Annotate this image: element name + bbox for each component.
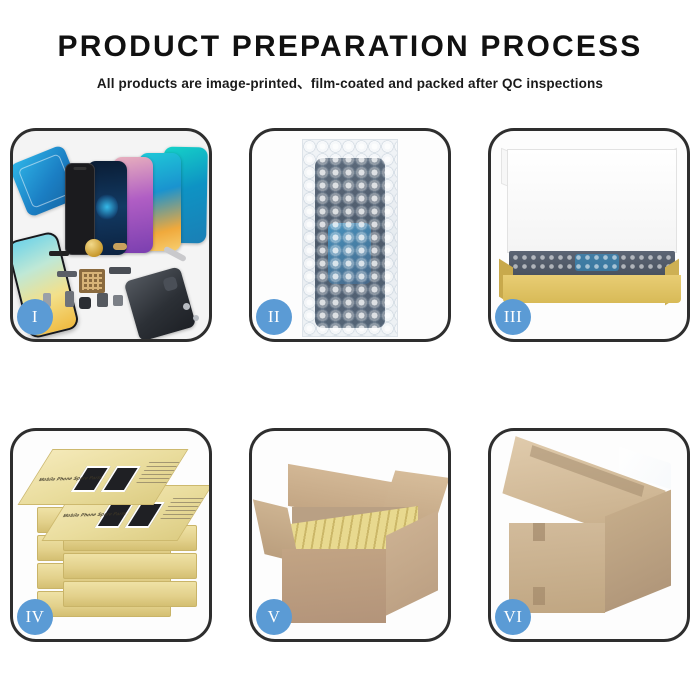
infographic-page: PRODUCT PREPARATION PROCESS All products…	[0, 0, 700, 700]
page-title: PRODUCT PREPARATION PROCESS	[0, 30, 700, 63]
step-panel-5: V	[249, 428, 451, 642]
step-panel-3: III	[488, 128, 690, 342]
step-badge-5: V	[256, 599, 292, 635]
chip-icon	[79, 269, 105, 293]
boxed-product-icon	[509, 251, 675, 275]
retail-box-icon	[63, 553, 197, 579]
step-panel-4: Mobile Phone Spare Parts Mobile Phone Sp…	[10, 428, 212, 642]
step-badge-2: II	[256, 299, 292, 335]
box-spec-text-icon	[136, 462, 184, 484]
screw-icon	[183, 303, 190, 310]
part-icon	[113, 295, 123, 306]
page-subtitle: All products are image-printed、film-coat…	[0, 72, 700, 92]
part-icon	[113, 243, 127, 250]
box-lid-icon	[507, 149, 677, 253]
bubble-texture-icon	[303, 140, 397, 336]
box-spec-text-icon	[160, 498, 208, 520]
retail-box-icon	[63, 581, 197, 607]
step-badge-1: I	[17, 299, 53, 335]
vibration-motor-icon	[85, 239, 103, 257]
step-badge-6: VI	[495, 599, 531, 635]
step-badge-3: III	[495, 299, 531, 335]
box-tray-front-icon	[503, 275, 681, 303]
part-icon	[79, 297, 91, 309]
step-panel-1: I	[10, 128, 212, 342]
header: PRODUCT PREPARATION PROCESS All products…	[0, 0, 700, 92]
carton-front-icon	[282, 549, 386, 623]
part-icon	[97, 293, 108, 307]
step-panel-6: VI	[488, 428, 690, 642]
process-steps-grid: I II III	[10, 128, 690, 642]
step-badge-4: IV	[17, 599, 53, 635]
bubble-wrap-pouch-icon	[302, 139, 398, 337]
part-icon	[57, 271, 77, 277]
step-panel-2: II	[249, 128, 451, 342]
carton-tape-mark-icon	[533, 587, 545, 605]
screw-icon	[193, 315, 199, 321]
part-icon	[109, 267, 131, 274]
part-icon	[49, 251, 69, 256]
part-icon	[65, 291, 74, 307]
sealed-carton-front-icon	[509, 523, 605, 613]
carton-tape-mark-icon	[533, 523, 545, 541]
